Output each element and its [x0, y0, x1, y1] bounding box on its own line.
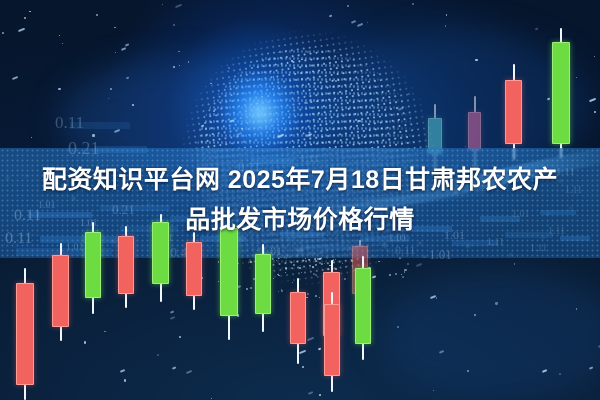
- particle: [319, 394, 321, 396]
- particle: [157, 354, 159, 356]
- globe-speckle: [378, 261, 380, 263]
- particle: [301, 59, 302, 60]
- particle: [2, 32, 4, 34]
- candle-body: [468, 112, 481, 150]
- candle-body: [52, 255, 69, 327]
- particle: [306, 102, 308, 104]
- lower-candle-9-down: [290, 278, 306, 364]
- globe-speckle: [285, 267, 287, 269]
- floating-number-1: 0.11: [55, 113, 84, 133]
- particle: [92, 134, 95, 137]
- particle: [436, 297, 437, 298]
- candle-body: [355, 268, 371, 344]
- globe-speckle: [250, 261, 252, 263]
- globe-speckle: [250, 287, 252, 289]
- lower-candle-13-down: [324, 292, 340, 392]
- particle: [358, 120, 361, 123]
- particle: [110, 88, 112, 90]
- particle: [213, 110, 215, 112]
- candle-body: [220, 228, 238, 316]
- particle: [335, 80, 337, 82]
- candle-body: [324, 304, 340, 376]
- globe-speckle: [276, 260, 277, 261]
- banner-image: 0.110.211.111.010.111.010.111.010.211.01…: [0, 0, 600, 400]
- particle: [576, 77, 577, 78]
- floating-number-17: 1.01: [429, 247, 452, 263]
- globe-speckle: [404, 269, 406, 271]
- candle-body: [118, 236, 134, 294]
- floating-number-2: 0.21: [68, 138, 100, 159]
- particle: [408, 93, 410, 95]
- particle: [495, 302, 497, 304]
- particle: [179, 336, 181, 338]
- globe-speckle: [401, 274, 402, 275]
- data-bar-11: [300, 244, 360, 250]
- particle: [62, 43, 63, 44]
- lower-candle-1-down: [16, 268, 34, 400]
- data-bar-2: [95, 146, 147, 153]
- particle: [402, 276, 404, 278]
- globe-speckle: [273, 278, 274, 279]
- globe-speckle: [404, 271, 405, 272]
- particle: [399, 119, 400, 120]
- floating-number-22: 1.11: [530, 243, 547, 254]
- globe-speckle: [319, 297, 320, 298]
- candle-body: [186, 242, 202, 296]
- globe-speckle: [307, 293, 308, 294]
- globe-speckle: [218, 261, 220, 263]
- globe-speckle: [246, 288, 247, 289]
- particle: [395, 273, 397, 275]
- particle: [367, 22, 368, 23]
- globe-speckle: [315, 295, 317, 297]
- candle-body: [552, 42, 570, 144]
- particle: [474, 314, 476, 316]
- globe-speckle: [315, 260, 317, 262]
- candle-body: [505, 80, 522, 144]
- particle: [58, 88, 60, 90]
- globe-speckle: [312, 266, 314, 268]
- particle: [433, 390, 434, 391]
- globe-speckle: [293, 264, 295, 266]
- globe-speckle: [313, 273, 315, 275]
- lower-candle-12-up: [355, 256, 371, 360]
- candle-body: [255, 254, 271, 314]
- title-line-2: 品批发市场价格行情: [0, 200, 600, 240]
- particle: [173, 66, 175, 68]
- particle: [228, 67, 230, 69]
- particle: [446, 14, 447, 15]
- particle: [300, 130, 301, 131]
- lower-candle-6-down: [186, 232, 202, 310]
- title-line-1: 配资知识平台网 2025年7月18日甘肃邦农农产: [0, 160, 600, 200]
- particle: [241, 128, 242, 129]
- particle: [307, 51, 309, 53]
- upper-candle-4-up: [552, 28, 570, 158]
- lower-candle-2-down: [52, 243, 69, 341]
- upper-candle-3-down: [505, 64, 522, 160]
- lower-candle-8-up: [255, 244, 271, 332]
- floating-number-18: 0.11: [395, 243, 416, 258]
- candle-body: [290, 292, 306, 344]
- candle-body: [85, 232, 101, 298]
- candle-body: [16, 283, 34, 385]
- particle: [514, 263, 515, 264]
- globe-speckle: [315, 274, 317, 276]
- title-block: 配资知识平台网 2025年7月18日甘肃邦农农产 品批发市场价格行情: [0, 160, 600, 240]
- particle: [59, 35, 60, 36]
- particle: [397, 326, 399, 328]
- globe-speckle: [319, 262, 321, 264]
- globe-speckle: [218, 281, 219, 282]
